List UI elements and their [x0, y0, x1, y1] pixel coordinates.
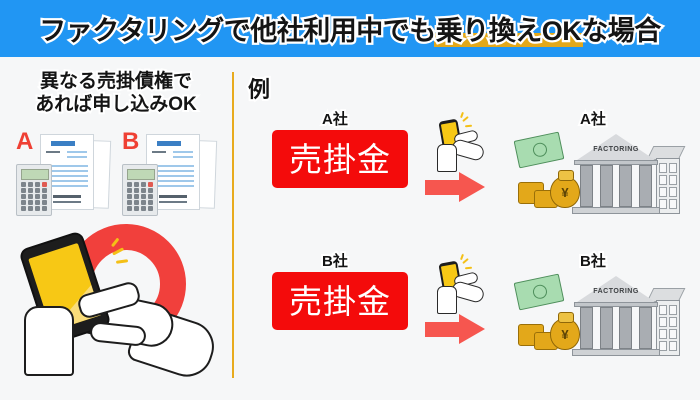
header-bar: ファクタリングで他社利用中でも乗り換えOKな場合 [0, 0, 700, 57]
right-panel-heading: 例 [248, 72, 270, 104]
bank-sign-label: FACTORING [580, 146, 652, 153]
panel-divider [232, 72, 234, 378]
title-part-1: ファクタリングで他社利用中でも [39, 16, 435, 46]
invoice-letter-a: A [16, 128, 33, 156]
building-wing [656, 158, 680, 214]
left-panel-heading: 異なる売掛債権で あれば申し込みOK [0, 70, 232, 116]
mini-hand-left-icon [437, 286, 457, 314]
source-company-label: A社 [322, 108, 348, 129]
money-illustration: ¥ [516, 132, 576, 216]
money-illustration: ¥ [516, 274, 576, 358]
title-part-2: な場合 [581, 16, 661, 46]
invoice-title-bar [51, 141, 75, 146]
invoice-amount-b [159, 195, 187, 198]
left-panel-illustration: A [14, 128, 224, 373]
invoice-group-a: A [16, 128, 112, 224]
calculator-icon [16, 164, 52, 216]
mini-hand-left-icon [437, 144, 457, 172]
banknote-icon [514, 274, 565, 311]
factoring-company-building-icon: FACTORING [570, 266, 680, 362]
invoice-title-bar [157, 141, 181, 146]
flow-row-a: A社 A社 売掛金 ¥ [240, 108, 692, 240]
hand-holding-icon [24, 306, 74, 376]
page-title: ファクタリングで他社利用中でも乗り換えOKな場合 [39, 9, 660, 48]
banknote-icon [514, 132, 565, 169]
infographic-canvas: ファクタリングで他社利用中でも乗り換えOKな場合 異なる売掛債権で あれば申し込… [0, 0, 700, 400]
left-heading-line-2: あれば申し込みOK [0, 93, 232, 116]
mobile-application-icon [428, 258, 482, 314]
invoice-amount-a [53, 195, 81, 198]
invoice-letter-b: B [122, 128, 139, 156]
bank-sign-label: FACTORING [580, 288, 652, 295]
flow-arrow-icon [425, 172, 487, 202]
calculator-icon [122, 164, 158, 216]
mobile-application-icon [428, 116, 482, 172]
receivable-label: 売掛金 [289, 143, 391, 176]
currency-symbol: ¥ [561, 185, 568, 200]
building-columns [580, 307, 652, 349]
invoice-group-b: B [122, 128, 218, 224]
factoring-company-building-icon: FACTORING [570, 124, 680, 220]
receivable-label: 売掛金 [289, 285, 391, 318]
building-columns [580, 165, 652, 207]
tap-spark-icon [110, 240, 140, 270]
title-highlight: 乗り換えOK [436, 16, 582, 46]
left-heading-line-1: 異なる売掛債権で [0, 70, 232, 93]
receivable-badge: 売掛金 [272, 272, 408, 330]
currency-symbol: ¥ [561, 327, 568, 342]
source-company-label: B社 [322, 250, 348, 271]
building-wing [656, 300, 680, 356]
receivable-badge: 売掛金 [272, 130, 408, 188]
flow-row-b: B社 B社 売掛金 ¥ [240, 250, 692, 382]
flow-arrow-icon [425, 314, 487, 344]
